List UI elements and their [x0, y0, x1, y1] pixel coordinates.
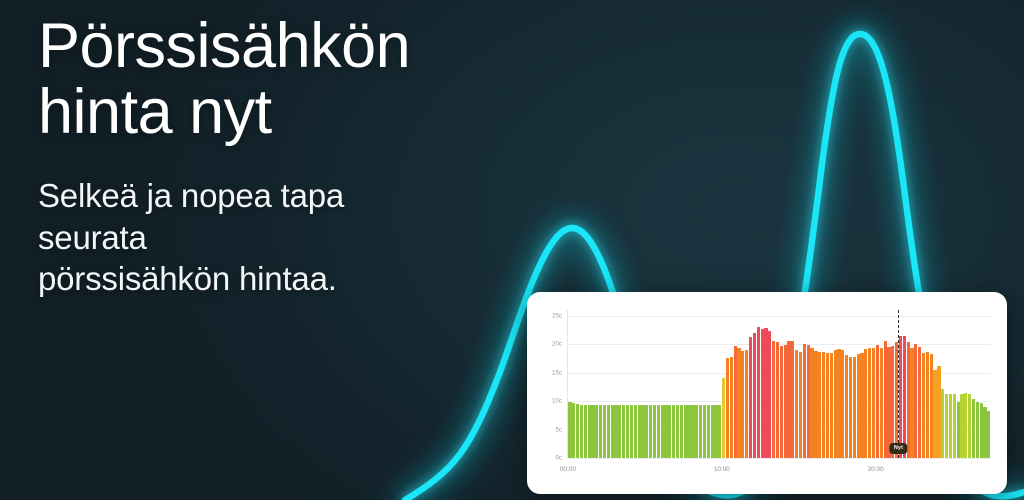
- price-bar[interactable]: [933, 370, 936, 458]
- price-bar[interactable]: [749, 337, 752, 458]
- price-bar[interactable]: [772, 341, 775, 458]
- price-bar[interactable]: [857, 354, 860, 458]
- price-bar[interactable]: [714, 405, 717, 458]
- price-bar[interactable]: [914, 344, 917, 458]
- price-bar[interactable]: [926, 352, 929, 458]
- price-bar[interactable]: [603, 405, 606, 458]
- price-bar[interactable]: [864, 349, 867, 458]
- price-bar[interactable]: [953, 394, 956, 458]
- price-bar[interactable]: [795, 350, 798, 458]
- y-axis-tick-label: 0c: [555, 455, 562, 462]
- price-bar[interactable]: [830, 353, 833, 458]
- x-axis: 00:0010:0020:00: [568, 466, 991, 478]
- price-bar[interactable]: [703, 405, 706, 459]
- price-bar[interactable]: [730, 357, 733, 458]
- price-bar[interactable]: [910, 348, 913, 458]
- price-bar[interactable]: [837, 349, 840, 458]
- price-bar[interactable]: [630, 405, 633, 458]
- price-bar[interactable]: [576, 404, 579, 458]
- price-bar[interactable]: [622, 405, 625, 458]
- x-axis-tick-label: 20:00: [868, 466, 884, 473]
- price-bar[interactable]: [860, 353, 863, 458]
- price-chart-card[interactable]: 0c5c10c15c20c25c Nyt 00:0010:0020:00: [527, 292, 1007, 494]
- chart-inner: 0c5c10c15c20c25c Nyt 00:0010:0020:00: [539, 302, 995, 484]
- price-bar[interactable]: [691, 405, 694, 459]
- price-bar[interactable]: [787, 341, 790, 458]
- price-bar[interactable]: [680, 405, 683, 459]
- price-bar[interactable]: [891, 346, 894, 458]
- price-bar[interactable]: [649, 405, 652, 458]
- price-bar[interactable]: [872, 348, 875, 458]
- price-bar[interactable]: [983, 407, 986, 458]
- price-bar[interactable]: [645, 405, 648, 458]
- price-bar[interactable]: [614, 405, 617, 458]
- price-bar[interactable]: [734, 346, 737, 458]
- price-bar[interactable]: [653, 405, 656, 458]
- y-axis-tick-label: 15c: [552, 369, 562, 376]
- price-bar[interactable]: [595, 405, 598, 458]
- price-bar[interactable]: [657, 405, 660, 458]
- price-bar[interactable]: [588, 405, 591, 459]
- price-bar[interactable]: [945, 394, 948, 458]
- price-bar[interactable]: [599, 405, 602, 458]
- banner-text-block: Pörssisähkön hinta nyt Selkeä ja nopea t…: [38, 14, 558, 300]
- price-bar[interactable]: [884, 341, 887, 458]
- price-bar[interactable]: [568, 402, 571, 458]
- now-marker-badge: Nyt: [890, 443, 907, 454]
- price-bar[interactable]: [607, 405, 610, 458]
- price-bar[interactable]: [684, 405, 687, 459]
- price-bar[interactable]: [757, 327, 760, 458]
- y-axis-tick-label: 25c: [552, 312, 562, 319]
- price-bar[interactable]: [868, 348, 871, 458]
- price-bar[interactable]: [791, 341, 794, 458]
- price-bar[interactable]: [845, 355, 848, 458]
- price-bar[interactable]: [768, 331, 771, 459]
- price-bar[interactable]: [591, 405, 594, 458]
- y-axis-tick-label: 10c: [552, 398, 562, 405]
- price-bar[interactable]: [584, 405, 587, 459]
- price-bar[interactable]: [726, 358, 729, 458]
- price-bar[interactable]: [707, 405, 710, 459]
- price-bar[interactable]: [711, 405, 714, 459]
- price-bar[interactable]: [834, 350, 837, 458]
- price-bar[interactable]: [741, 351, 744, 458]
- banner-subtitle: Selkeä ja nopea tapa seurata pörssisähkö…: [38, 175, 558, 300]
- price-bar[interactable]: [753, 333, 756, 458]
- price-bar[interactable]: [937, 366, 940, 458]
- price-bar[interactable]: [818, 352, 821, 458]
- price-bar[interactable]: [941, 389, 944, 458]
- price-bar[interactable]: [803, 344, 806, 458]
- price-bar[interactable]: [638, 405, 641, 458]
- price-bar[interactable]: [949, 394, 952, 458]
- gridline: [567, 458, 991, 459]
- price-bar[interactable]: [957, 402, 960, 458]
- promo-banner: Pörssisähkön hinta nyt Selkeä ja nopea t…: [0, 0, 1024, 500]
- price-bar[interactable]: [722, 378, 725, 458]
- price-bar[interactable]: [580, 405, 583, 459]
- price-bar[interactable]: [641, 405, 644, 458]
- price-bar[interactable]: [687, 405, 690, 459]
- price-bar[interactable]: [960, 394, 963, 458]
- price-bar[interactable]: [668, 405, 671, 458]
- price-bar[interactable]: [964, 393, 967, 458]
- price-bar[interactable]: [826, 353, 829, 458]
- price-bar[interactable]: [807, 345, 810, 458]
- price-bar[interactable]: [972, 399, 975, 458]
- price-bar[interactable]: [968, 394, 971, 458]
- x-axis-tick-label: 10:00: [714, 466, 730, 473]
- price-bar[interactable]: [930, 354, 933, 458]
- price-bar[interactable]: [922, 353, 925, 458]
- price-bar[interactable]: [611, 405, 614, 458]
- price-bar[interactable]: [745, 350, 748, 458]
- price-bar[interactable]: [880, 348, 883, 458]
- price-bar[interactable]: [799, 352, 802, 458]
- page-title: Pörssisähkön hinta nyt: [38, 14, 558, 145]
- price-bar[interactable]: [634, 405, 637, 458]
- price-bar[interactable]: [810, 348, 813, 458]
- chart-plot-area: 0c5c10c15c20c25c Nyt: [567, 310, 991, 458]
- price-bar[interactable]: [907, 342, 910, 458]
- price-bar[interactable]: [695, 405, 698, 459]
- price-bar[interactable]: [784, 345, 787, 458]
- x-axis-tick-label: 00:00: [560, 466, 576, 473]
- price-bar[interactable]: [987, 411, 990, 458]
- price-bar[interactable]: [776, 342, 779, 458]
- price-bar[interactable]: [887, 347, 890, 458]
- price-bar[interactable]: [664, 405, 667, 458]
- price-bar[interactable]: [699, 405, 702, 459]
- price-bar[interactable]: [853, 357, 856, 458]
- price-bar[interactable]: [876, 345, 879, 458]
- y-axis-tick-label: 20c: [552, 341, 562, 348]
- price-bar[interactable]: [572, 403, 575, 458]
- price-bar[interactable]: [814, 351, 817, 458]
- price-bar[interactable]: [676, 405, 679, 459]
- price-bar[interactable]: [661, 405, 664, 458]
- price-bar[interactable]: [780, 346, 783, 458]
- price-bar[interactable]: [718, 405, 721, 458]
- price-bar[interactable]: [903, 336, 906, 458]
- price-bar[interactable]: [849, 357, 852, 458]
- price-bar[interactable]: [626, 405, 629, 458]
- price-bars[interactable]: [568, 310, 991, 458]
- price-bar[interactable]: [618, 405, 621, 458]
- price-bar[interactable]: [841, 350, 844, 458]
- y-axis-tick-label: 5c: [555, 426, 562, 433]
- price-bar[interactable]: [761, 329, 764, 458]
- price-bar[interactable]: [672, 405, 675, 458]
- price-bar[interactable]: [737, 348, 740, 458]
- price-bar[interactable]: [976, 402, 979, 458]
- price-bar[interactable]: [918, 347, 921, 458]
- price-bar[interactable]: [980, 403, 983, 458]
- now-marker-line: [898, 310, 899, 458]
- price-bar[interactable]: [822, 352, 825, 458]
- price-bar[interactable]: [764, 328, 767, 458]
